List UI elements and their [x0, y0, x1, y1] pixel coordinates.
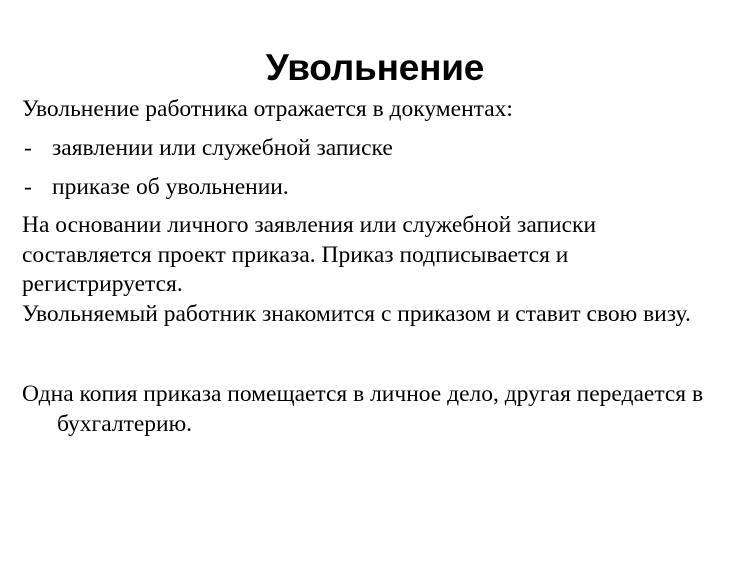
body-paragraph-employee-signature: Увольняемый работник знакомится с приказ… — [22, 300, 722, 330]
slide-body: Увольнение работника отражается в докуме… — [22, 94, 722, 439]
body-paragraph-order-procedure: На основании личного заявления или служе… — [22, 211, 722, 300]
paragraph-spacer — [22, 329, 722, 379]
list-item-label: заявлении или служебной записке — [52, 135, 393, 161]
page-title: Увольнение — [0, 46, 750, 90]
list-item: - приказе об увольнении. — [22, 172, 722, 202]
list-item-label: приказе об увольнении. — [52, 174, 289, 200]
hyphen-bullet-icon: - — [24, 172, 32, 202]
slide: Увольнение Увольнение работника отражает… — [0, 0, 750, 561]
list-item: - заявлении или служебной записке — [22, 133, 722, 163]
intro-paragraph: Увольнение работника отражается в докуме… — [22, 94, 722, 124]
document-list: - заявлении или служебной записке - прик… — [22, 133, 722, 202]
hyphen-bullet-icon: - — [24, 133, 32, 163]
body-paragraph-copies: Одна копия приказа помещается в личное д… — [22, 379, 722, 439]
